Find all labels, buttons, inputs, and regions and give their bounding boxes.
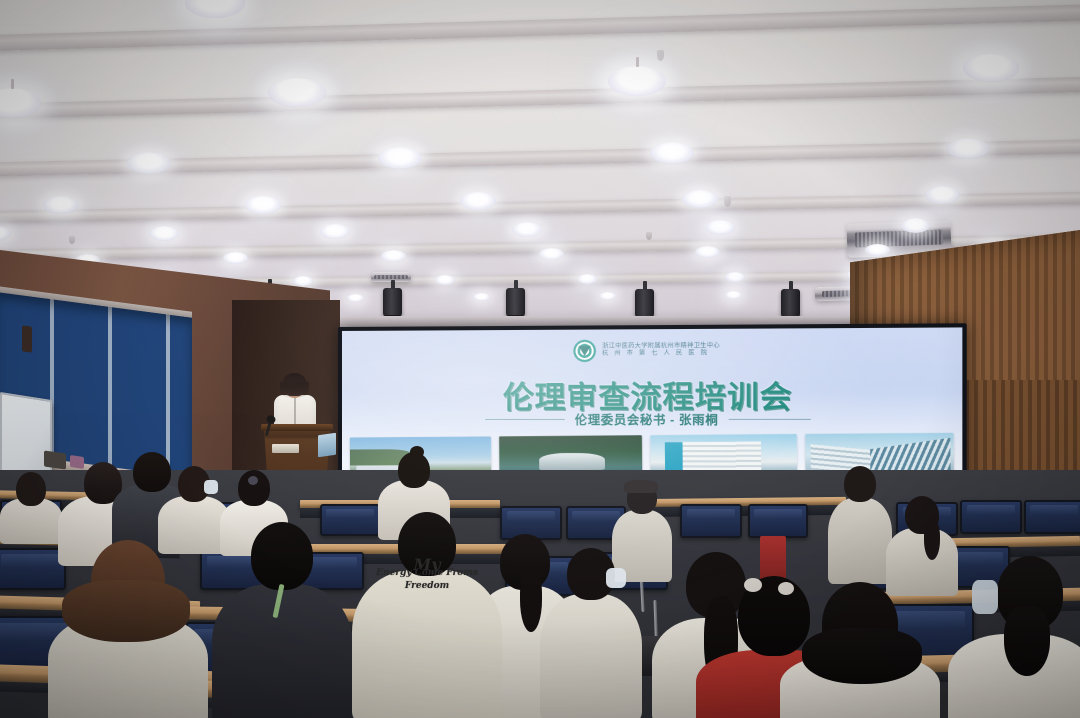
face-mask: [606, 568, 626, 588]
recessed-downlight: [378, 147, 422, 169]
attendee-torso: [352, 570, 502, 718]
attendee-head: [844, 466, 876, 502]
seat-back: [960, 500, 1022, 534]
recessed-downlight: [185, 0, 245, 18]
fire-sprinkler: [646, 232, 652, 240]
stage-spotlight: [635, 289, 654, 319]
fire-sprinkler: [69, 236, 75, 244]
podium-laptop: [318, 433, 336, 458]
fire-sprinkler: [657, 50, 664, 61]
stage-spotlight: [383, 288, 402, 318]
recessed-downlight: [268, 78, 326, 107]
slide-subtitle-row: 伦理委员会秘书 - 张雨桐: [342, 411, 962, 429]
hair-bun: [410, 446, 424, 458]
attendee-masked-midright: [540, 548, 642, 718]
seat-back: [1024, 500, 1080, 534]
attendee-torso: [212, 584, 352, 718]
attendee-long-hair-foreground-right: [780, 582, 940, 718]
subtitle-rule-right: [729, 419, 811, 420]
recessed-downlight: [0, 226, 11, 241]
attendee-standing-right-of-screen: [828, 466, 892, 582]
podium-name-plate: [272, 444, 299, 453]
presenter-hair: [282, 373, 307, 396]
attendee-masked-far-right: [948, 556, 1080, 718]
recessed-downlight: [695, 246, 720, 258]
recessed-downlight: [245, 196, 281, 214]
recessed-downlight: [650, 142, 694, 164]
attendee-tshirt-slogan: My Energy Come Froms Freedom: [352, 512, 502, 718]
recessed-downlight: [725, 291, 742, 299]
recessed-downlight: [127, 152, 171, 174]
attendee-long-hair-foreground-left: [48, 540, 208, 718]
tshirt-slogan-line-2: Energy Come Froms: [376, 568, 478, 578]
recessed-downlight: [539, 248, 564, 260]
recessed-downlight: [947, 138, 989, 159]
attendee-row1-left-edge: [0, 472, 62, 534]
seat-back: [680, 504, 742, 538]
tshirt-slogan-line-3: Freedom: [405, 581, 449, 591]
recessed-downlight: [320, 224, 350, 239]
recessed-downlight: [705, 220, 735, 235]
recessed-downlight: [925, 186, 960, 204]
face-mask: [972, 580, 998, 614]
org-line-2: 杭 州 市 第 七 人 民 医 院: [602, 350, 720, 358]
cap-icon: [624, 480, 658, 493]
stage-spotlight: [781, 289, 800, 319]
recessed-downlight: [599, 292, 616, 300]
recessed-downlight: [963, 54, 1019, 82]
ceiling-beam: [0, 70, 1080, 123]
stage-spotlight: [506, 288, 525, 318]
face-mask: [204, 480, 218, 494]
recessed-downlight: [608, 66, 666, 96]
slide-subtitle: 伦理委员会秘书 - 张雨桐: [575, 411, 719, 428]
ponytail: [520, 568, 542, 632]
hospital-emblem-icon: [573, 340, 596, 362]
long-hair: [62, 580, 190, 642]
recessed-downlight: [901, 218, 930, 233]
long-hair: [802, 628, 922, 684]
ponytail: [924, 520, 940, 560]
attendee-lanyard-center: [212, 522, 352, 718]
recessed-downlight: [149, 226, 179, 241]
long-hair: [1004, 606, 1050, 676]
recessed-downlight: [223, 252, 248, 264]
attendee-head: [16, 472, 46, 506]
hospital-name-block: 浙江中医药大学附属杭州市精神卫生中心 杭 州 市 第 七 人 民 医 院: [602, 343, 720, 358]
attendee-torso: [828, 498, 892, 584]
recessed-downlight: [43, 196, 79, 214]
recessed-downlight: [347, 294, 364, 302]
wall-clutter: [22, 325, 32, 352]
recessed-downlight: [512, 222, 542, 237]
attendee-head: [251, 522, 313, 590]
seat-back: [748, 504, 808, 538]
slide-logo-group: 浙江中医药大学附属杭州市精神卫生中心 杭 州 市 第 七 人 民 医 院: [573, 339, 720, 362]
ceiling-beam: [0, 0, 1080, 56]
subtitle-rule-left: [485, 419, 565, 420]
conference-hall-photo: 浙江中医药大学附属杭州市精神卫生中心 杭 州 市 第 七 人 民 医 院 伦理审…: [0, 0, 1080, 718]
recessed-downlight: [381, 250, 406, 262]
hair-clip: [248, 476, 258, 485]
hair-scrunchie: [744, 578, 762, 592]
recessed-downlight: [460, 192, 496, 210]
recessed-downlight: [473, 293, 490, 301]
podium-top-surface: [261, 424, 333, 431]
recessed-downlight: [682, 190, 718, 208]
attendee-torso: [540, 594, 642, 718]
